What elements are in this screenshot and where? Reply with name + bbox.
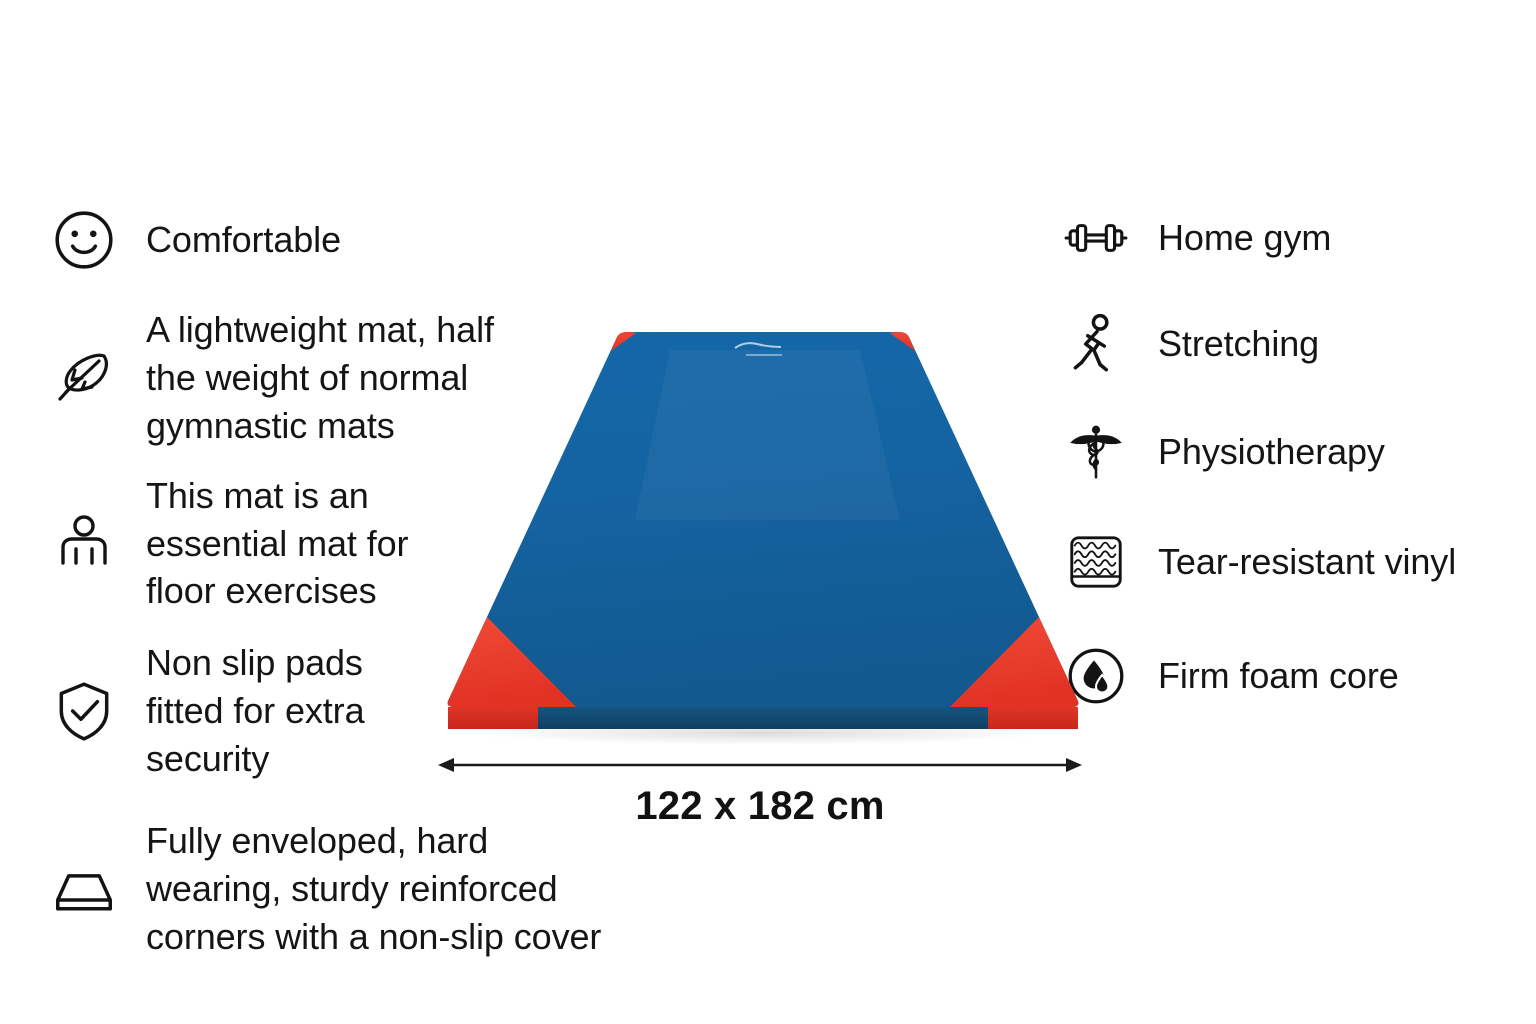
feature-comfortable: Comfortable	[44, 200, 604, 280]
feather-icon	[44, 338, 124, 418]
mat-corner-edge-front-left	[448, 707, 538, 729]
mat-front-edge	[448, 707, 1078, 729]
mat-corner-edge-front-right	[988, 707, 1078, 729]
feature-firm-foam-core: Firm foam core	[1056, 636, 1526, 716]
feature-tear-resistant-vinyl: Tear-resistant vinyl	[1056, 522, 1526, 602]
feature-label: Tear-resistant vinyl	[1158, 538, 1456, 586]
dimension-annotation: 122 x 182 cm	[436, 752, 1084, 829]
feature-label: This mat is an essential mat for floor e…	[146, 472, 408, 616]
feature-label: Fully enveloped, hard wearing, sturdy re…	[146, 817, 601, 961]
width-dimension-arrow	[436, 752, 1084, 778]
feature-label: Stretching	[1158, 320, 1319, 368]
feature-physiotherapy: Physiotherapy	[1056, 412, 1526, 492]
feature-enveloped-cover: Fully enveloped, hard wearing, sturdy re…	[44, 817, 604, 961]
mattress-icon	[44, 849, 124, 929]
feature-label: Comfortable	[146, 216, 341, 264]
smiley-face-icon	[44, 200, 124, 280]
feature-label: Home gym	[1158, 214, 1331, 262]
feature-label: Non slip pads fitted for extra security	[146, 639, 365, 783]
dumbbell-icon	[1056, 198, 1136, 278]
shield-check-icon	[44, 671, 124, 751]
feature-label: Physiotherapy	[1158, 428, 1385, 476]
dimension-label: 122 x 182 cm	[436, 784, 1084, 829]
feature-stretching: Stretching	[1056, 304, 1526, 384]
feature-home-gym: Home gym	[1056, 198, 1526, 278]
mat-illustration	[430, 320, 1090, 750]
product-infographic: Comfortable A lightweight mat, half the …	[0, 0, 1536, 1024]
right-feature-list: Home gym Stretching	[1056, 198, 1526, 716]
feature-label: Firm foam core	[1158, 652, 1399, 700]
person-icon	[44, 503, 124, 583]
mat-surface-highlight	[635, 350, 900, 520]
product-image-gymnastic-mat	[430, 320, 1090, 750]
